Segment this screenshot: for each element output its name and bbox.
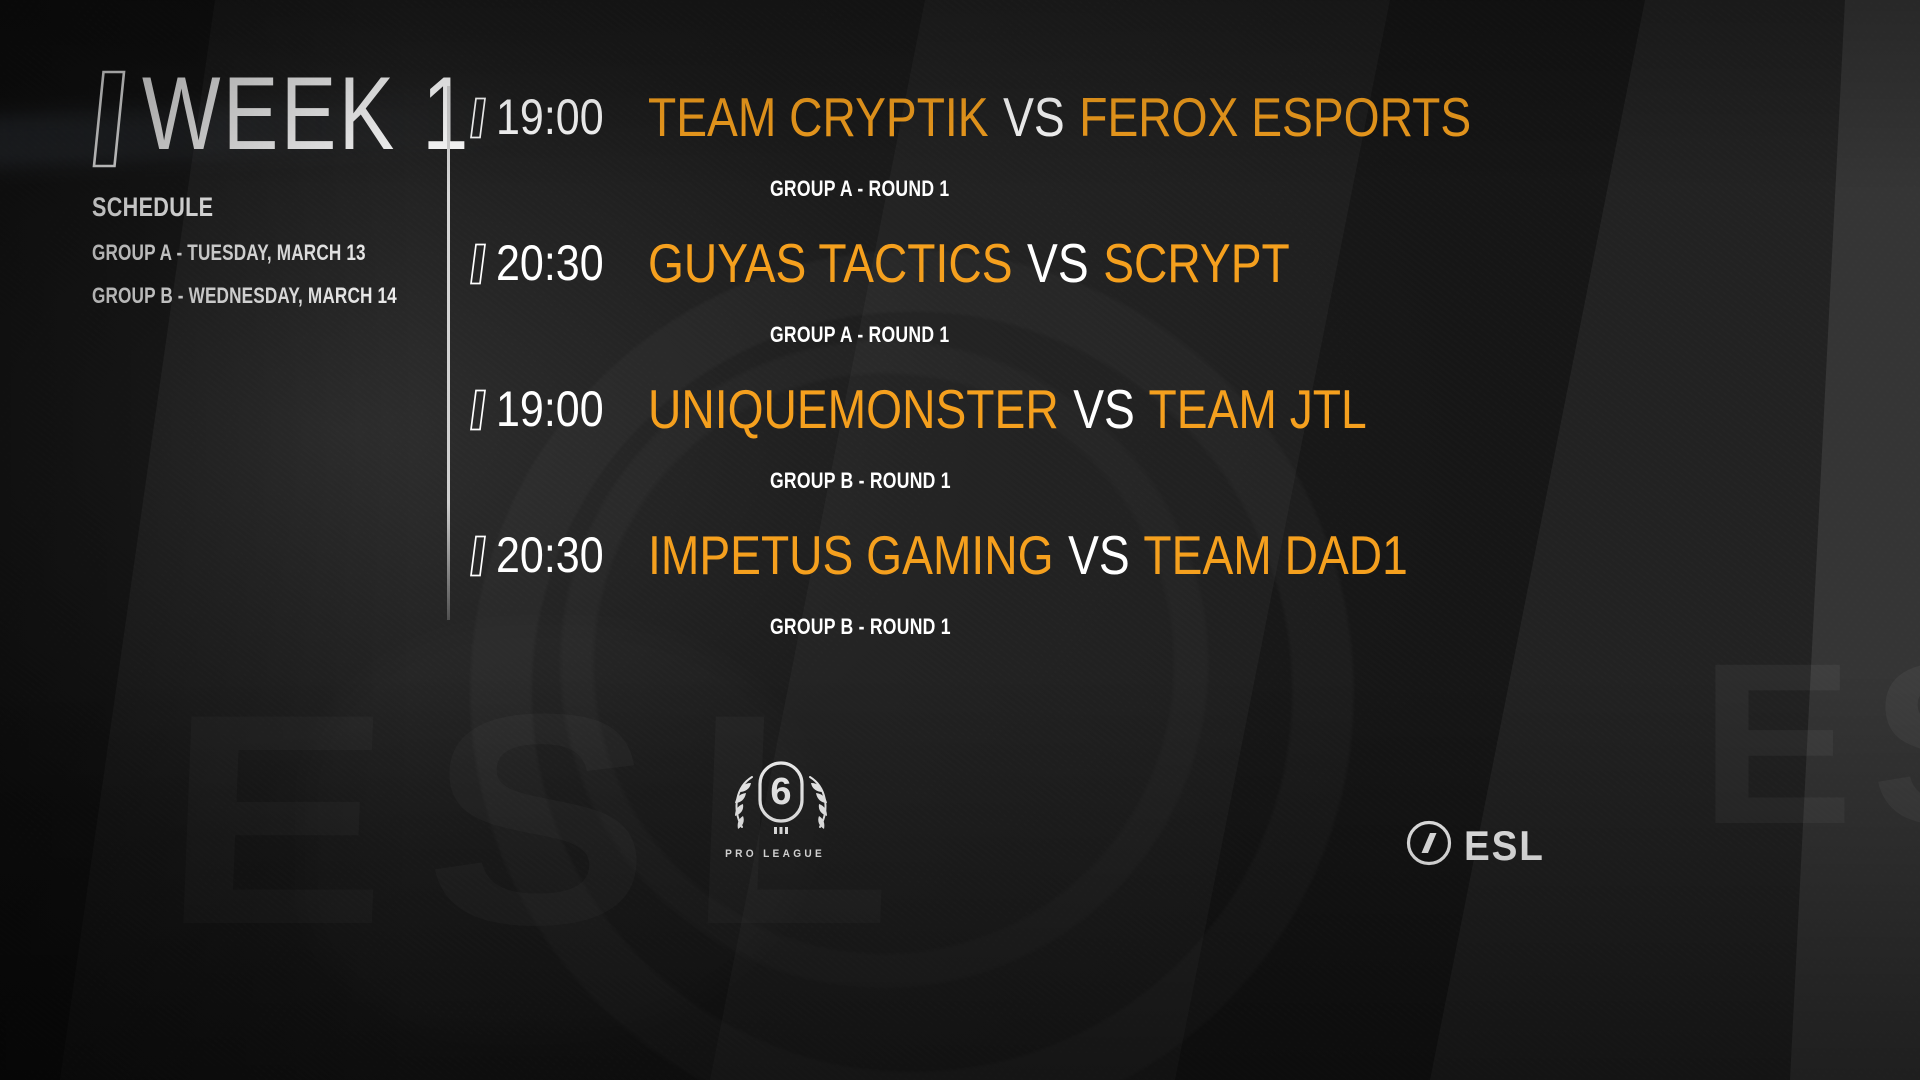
team-a-name: TEAM CRYPTIK: [648, 86, 989, 148]
match-headline: 19:00 TEAM CRYPTIK VS FEROX ESPORTS: [470, 80, 1650, 154]
title-block: WEEK 1 SCHEDULE GROUP A - TUESDAY, MARCH…: [92, 66, 522, 309]
match-teams: GUYAS TACTICS VS SCRYPT: [648, 236, 1290, 291]
match-list: 19:00 TEAM CRYPTIK VS FEROX ESPORTS GROU…: [470, 80, 1650, 664]
team-a-name: UNIQUEMONSTER: [648, 378, 1059, 440]
vs-label: VS: [1001, 86, 1066, 148]
match-headline: 20:30 GUYAS TACTICS VS SCRYPT: [470, 226, 1650, 300]
match-row: 19:00 TEAM CRYPTIK VS FEROX ESPORTS GROU…: [470, 80, 1650, 226]
team-b-name: TEAM DAD1: [1143, 524, 1407, 586]
vs-label: VS: [1025, 232, 1090, 294]
match-subtitle: GROUP A - ROUND 1: [770, 176, 1474, 202]
match-subtitle: GROUP B - ROUND 1: [770, 614, 1474, 640]
team-a-name: IMPETUS GAMING: [648, 524, 1054, 586]
match-headline: 19:00 UNIQUEMONSTER VS TEAM JTL: [470, 372, 1650, 446]
match-time: 19:00: [496, 384, 622, 434]
date-line-group-b: GROUP B - WEDNESDAY, MARCH 14: [92, 283, 427, 309]
vs-label: VS: [1072, 378, 1137, 440]
match-row: 19:00 UNIQUEMONSTER VS TEAM JTL GROUP B …: [470, 372, 1650, 518]
match-teams: UNIQUEMONSTER VS TEAM JTL: [648, 382, 1367, 437]
match-subtitle: GROUP A - ROUND 1: [770, 322, 1474, 348]
match-row: 20:30 GUYAS TACTICS VS SCRYPT GROUP A - …: [470, 226, 1650, 372]
match-subtitle: GROUP B - ROUND 1: [770, 468, 1474, 494]
esl-wordmark: ESL: [1464, 825, 1545, 867]
team-b-name: TEAM JTL: [1149, 378, 1367, 440]
slash-icon: [92, 70, 126, 168]
team-a-name: GUYAS TACTICS: [648, 232, 1013, 294]
pro-league-caption: PRO LEAGUE: [713, 848, 837, 860]
team-b-name: FEROX ESPORTS: [1079, 86, 1471, 148]
match-time: 20:30: [496, 238, 622, 288]
match-teams: IMPETUS GAMING VS TEAM DAD1: [648, 528, 1408, 583]
week-title-row: WEEK 1: [92, 66, 522, 178]
slash-icon: [470, 389, 486, 431]
match-time: 19:00: [496, 92, 622, 142]
match-teams: TEAM CRYPTIK VS FEROX ESPORTS: [648, 90, 1471, 145]
match-headline: 20:30 IMPETUS GAMING VS TEAM DAD1: [470, 518, 1650, 592]
schedule-label: SCHEDULE: [92, 192, 436, 223]
rainbow-six-pro-league-logo: 6 PRO LEAGUE: [713, 757, 848, 860]
match-time: 20:30: [496, 530, 622, 580]
svg-text:6: 6: [770, 771, 791, 813]
esl-logo: ESL: [1406, 820, 1552, 871]
team-b-name: SCRYPT: [1103, 232, 1290, 294]
schedule-graphic: ESL ESL WEEK 1 SCHEDULE GROUP A - TUESDA…: [0, 0, 1920, 1080]
slash-icon: [470, 243, 486, 285]
page-title: WEEK 1: [142, 62, 471, 166]
rainbow-six-siege-emblem-icon: 6: [713, 757, 848, 845]
vertical-divider: [447, 86, 450, 620]
slash-icon: [470, 97, 486, 139]
date-line-group-a: GROUP A - TUESDAY, MARCH 13: [92, 240, 427, 266]
vs-label: VS: [1066, 524, 1131, 586]
esl-circle-slash-icon: [1406, 820, 1452, 871]
match-row: 20:30 IMPETUS GAMING VS TEAM DAD1 GROUP …: [470, 518, 1650, 664]
slash-icon: [470, 535, 486, 577]
